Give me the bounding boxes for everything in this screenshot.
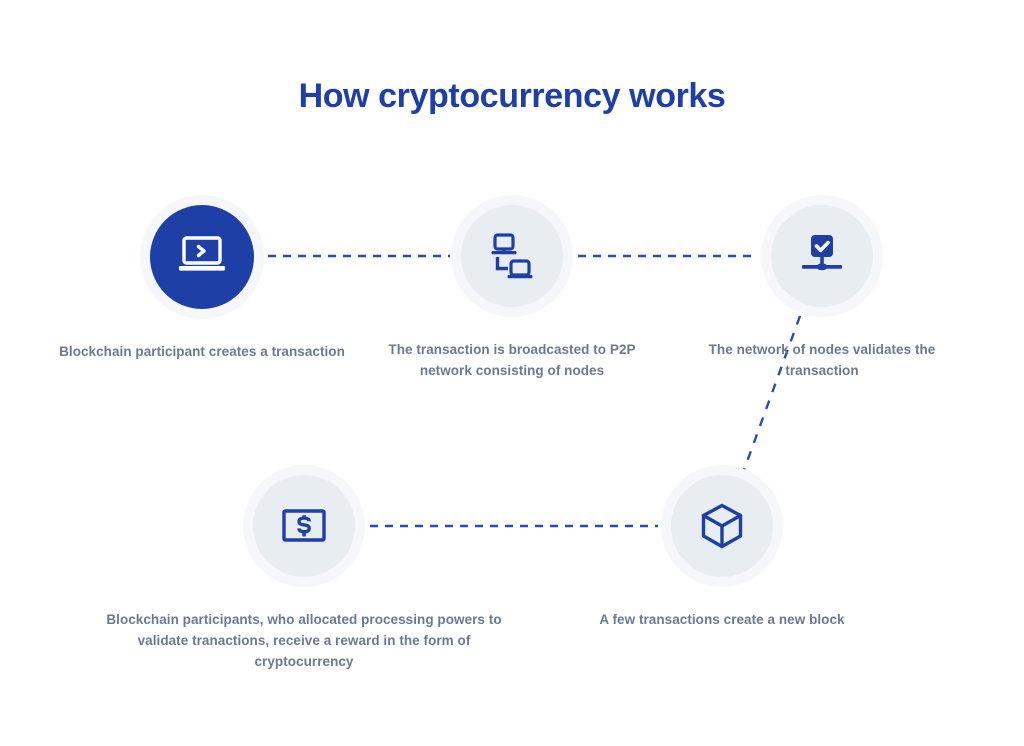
- step-2-disc: [461, 205, 563, 307]
- step-5-disc: [671, 475, 773, 577]
- step-4-disc: [253, 475, 355, 577]
- validated-node-check-icon: [798, 234, 846, 278]
- step-5-new-block[interactable]: A few transactions create a new block: [572, 465, 872, 630]
- step-3-caption: The network of nodes validates the trans…: [672, 339, 972, 381]
- cube-block-icon: [700, 503, 744, 549]
- step-1-ring: [140, 195, 264, 319]
- step-1-disc: [150, 205, 254, 309]
- step-2-p2p-broadcast[interactable]: The transaction is broadcasted to P2P ne…: [362, 195, 662, 381]
- p2p-network-icon: [489, 233, 535, 279]
- page-title: How cryptocurrency works: [0, 72, 1024, 120]
- step-3-nodes-validate[interactable]: The network of nodes validates the trans…: [672, 195, 972, 381]
- step-2-caption: The transaction is broadcasted to P2P ne…: [362, 339, 662, 381]
- step-5-ring: [661, 465, 783, 587]
- step-3-disc: [771, 205, 873, 307]
- step-1-caption: Blockchain participant creates a transac…: [52, 341, 352, 362]
- infographic-canvas: How cryptocurrency works Blockchain part…: [0, 0, 1024, 746]
- step-3-ring: [761, 195, 883, 317]
- step-4-ring: [243, 465, 365, 587]
- step-4-miner-reward[interactable]: Blockchain participants, who allocated p…: [154, 465, 454, 672]
- step-1-blockchain-participant[interactable]: Blockchain participant creates a transac…: [52, 195, 352, 362]
- laptop-chevron-icon: [177, 235, 227, 279]
- step-5-caption: A few transactions create a new block: [572, 609, 872, 630]
- banknote-dollar-icon: [282, 509, 326, 543]
- step-2-ring: [451, 195, 573, 317]
- step-4-caption: Blockchain participants, who allocated p…: [94, 609, 514, 672]
